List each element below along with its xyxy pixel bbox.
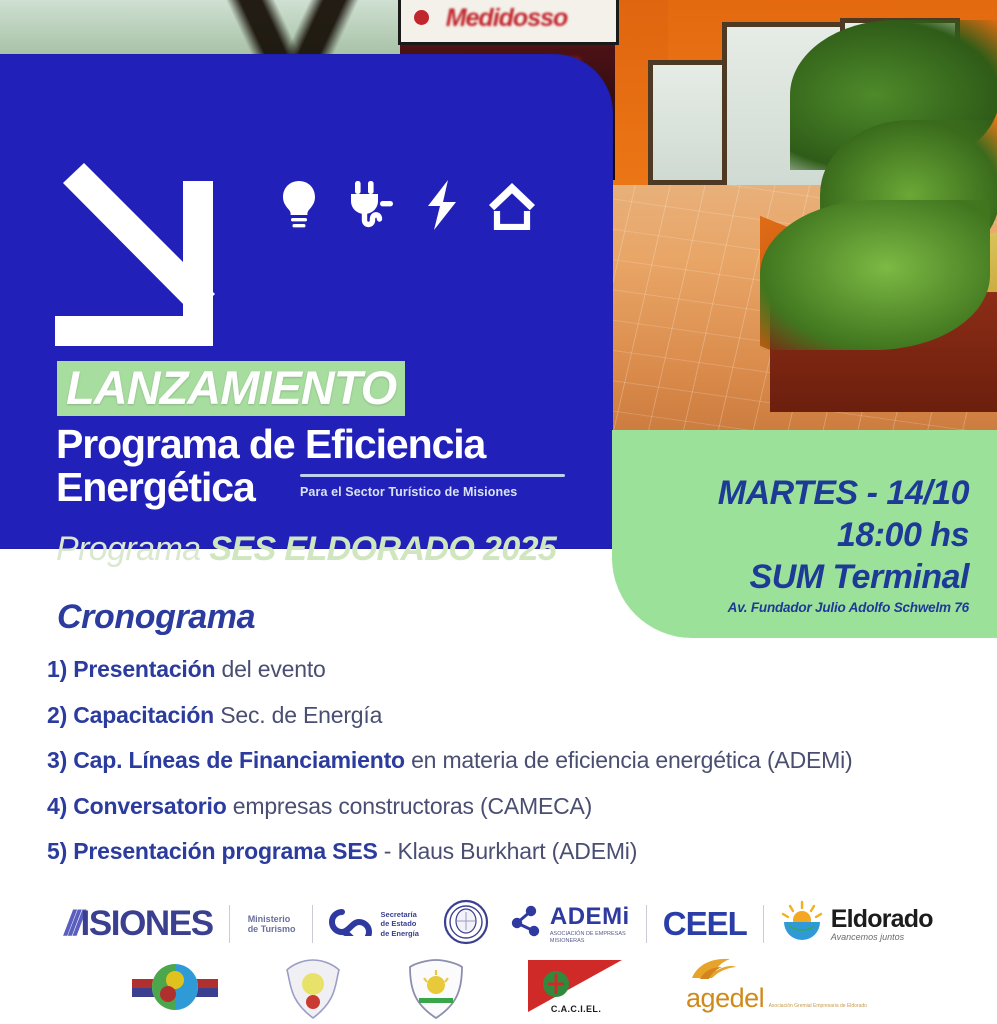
program-prefix: Programa <box>56 530 209 568</box>
poster-title-line1: Programa de Eficiencia <box>56 421 485 467</box>
misiones-mark: /// <box>64 904 78 944</box>
ademi-text-block: ADEMi ASOCIACIÓN DE EMPRESAS MISIONERAS <box>550 903 630 945</box>
hero-blue-panel: LANZAMIENTO Programa de Eficiencia Energ… <box>0 55 612 548</box>
event-details-panel: MARTES - 14/10 18:00 hs SUM Terminal Av.… <box>612 430 997 638</box>
partner-logo-3 <box>406 958 466 1024</box>
secretaria-line3: de Energía <box>381 929 419 938</box>
schedule-title: Cronograma <box>57 598 255 637</box>
sponsor-logos-row-2: C.A.C.I.EL. agedel Asociación Gremial Em… <box>0 958 997 1024</box>
ademi-wordmark: ADEMi <box>550 903 630 931</box>
schedule-item-rest: Sec. de Energía <box>214 702 382 728</box>
down-right-arrow-logo <box>55 163 230 363</box>
kicker-lanzamiento: LANZAMIENTO <box>57 361 405 416</box>
ademi-mark-icon <box>509 904 545 945</box>
eldorado-text-block: Eldorado Avancemos juntos <box>831 907 933 942</box>
schedule-item-number: 4) <box>47 793 67 819</box>
schedule-item-rest: en materia de eficiencia energética (ADE… <box>405 747 853 773</box>
partner-logo-2 <box>280 958 346 1024</box>
schedule-item: 5) Presentación programa SES - Klaus Bur… <box>47 840 977 863</box>
eldorado-sun-icon <box>780 900 824 949</box>
secretaria-energia-logo: Secretaría de Estado de Energía <box>329 908 419 941</box>
misiones-logo: /// ISIONES <box>64 904 212 944</box>
kicker-wrapper: LANZAMIENTO <box>57 361 405 416</box>
schedule-item-bold: Presentación programa SES <box>73 838 377 864</box>
lightbulb-icon <box>278 179 320 231</box>
event-date: MARTES - 14/10 <box>629 474 969 513</box>
schedule-item-bold: Conversatorio <box>73 793 226 819</box>
logo-divider <box>312 905 313 943</box>
logo-divider <box>229 905 230 943</box>
schedule-item: 2) Capacitación Sec. de Energía <box>47 704 977 727</box>
schedule-item-number: 1) <box>47 656 67 682</box>
misiones-wordmark: ISIONES <box>81 904 213 944</box>
event-poster: Medidosso <box>0 0 997 1024</box>
eldorado-wordmark: Eldorado <box>831 907 933 932</box>
caclel-wordmark: C.A.C.I.EL. <box>551 1004 601 1014</box>
schedule-item-number: 2) <box>47 702 67 728</box>
energy-icon-row <box>278 179 538 231</box>
logo-divider <box>763 905 764 943</box>
ministerio-turismo-label: Ministerio de Turismo <box>248 914 296 935</box>
logo-divider <box>646 905 647 943</box>
schedule-item-bold: Presentación <box>73 656 215 682</box>
lightning-bolt-icon <box>424 179 460 231</box>
ademi-sub1: ASOCIACIÓN DE EMPRESAS <box>550 931 630 938</box>
secretaria-line2: de Estado <box>381 919 419 928</box>
agedel-logo: agedel Asociación Gremial Empresaria de … <box>686 958 867 1012</box>
photo-plant-3 <box>760 200 990 350</box>
schedule-item-rest: del evento <box>215 656 325 682</box>
event-venue: SUM Terminal <box>629 558 969 597</box>
schedule-item-rest: - Klaus Burkhart (ADEMi) <box>378 838 638 864</box>
schedule-item-bold: Cap. Líneas de Financiamiento <box>73 747 405 773</box>
ademi-logo: ADEMi ASOCIACIÓN DE EMPRESAS MISIONERAS <box>509 903 630 945</box>
ministerio-line1: Ministerio <box>248 914 296 924</box>
schedule-item-number: 5) <box>47 838 67 864</box>
title-rule <box>300 474 565 477</box>
ceel-logo: CEEL <box>663 905 747 943</box>
schedule-item-rest: empresas constructoras (CAMECA) <box>227 793 593 819</box>
eldorado-logo: Eldorado Avancemos juntos <box>780 900 933 949</box>
event-time: 18:00 hs <box>629 516 969 555</box>
schedule-item-number: 3) <box>47 747 67 773</box>
schedule-item: 4) Conversatorio empresas constructoras … <box>47 795 977 818</box>
agedel-flame-icon <box>686 958 867 985</box>
plug-icon <box>346 179 398 231</box>
poster-subtitle: Para el Sector Turístico de Misiones <box>300 485 570 499</box>
schedule-item-bold: Capacitación <box>73 702 214 728</box>
eldorado-tagline: Avancemos juntos <box>831 932 933 942</box>
photo-shop-sign-text: Medidosso <box>404 4 609 33</box>
schedule-item: 3) Cap. Líneas de Financiamiento en mate… <box>47 749 977 772</box>
ministerio-line2: de Turismo <box>248 924 296 934</box>
program-name-line: Programa SES ELDORADO 2025 <box>56 530 601 569</box>
escudo-logo <box>443 899 489 950</box>
schedule-item: 1) Presentación del evento <box>47 658 977 681</box>
program-name: SES ELDORADO 2025 <box>209 530 556 568</box>
schedule-list: 1) Presentación del evento 2) Capacitaci… <box>47 658 977 886</box>
secretaria-energia-label: Secretaría de Estado de Energía <box>381 910 419 938</box>
caclel-logo: C.A.C.I.EL. <box>526 958 626 1014</box>
agedel-tagline: Asociación Gremial Empresaria de Eldorad… <box>769 1003 867 1009</box>
agedel-wordmark: agedel <box>686 983 764 1013</box>
sponsor-logos-row-1: /// ISIONES Ministerio de Turismo Secret… <box>0 893 997 955</box>
event-address: Av. Fundador Julio Adolfo Schwelm 76 <box>629 600 969 615</box>
secretaria-line1: Secretaría <box>381 910 419 919</box>
ademi-sub2: MISIONERAS <box>550 938 630 945</box>
partner-logo-1 <box>130 958 220 1021</box>
infinity-icon <box>329 908 375 941</box>
house-icon <box>486 180 538 230</box>
